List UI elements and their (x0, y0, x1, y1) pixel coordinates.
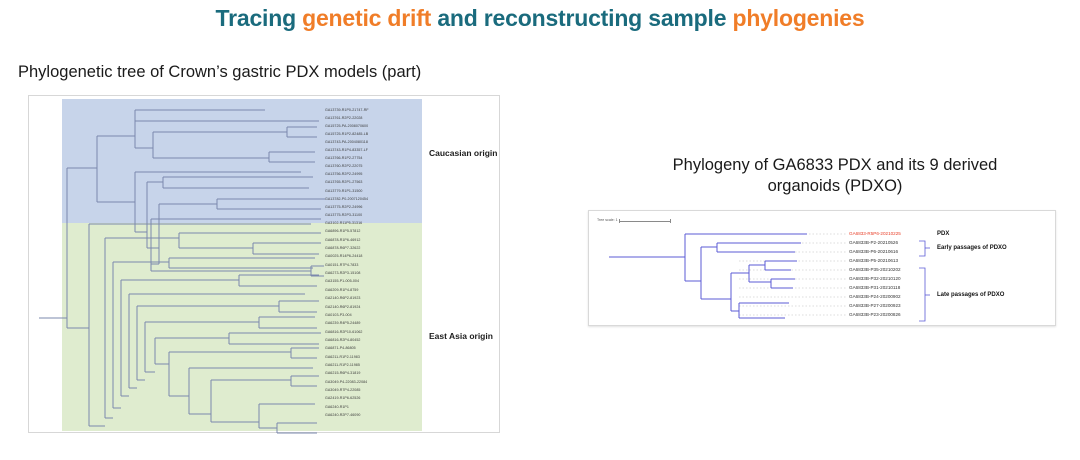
title-segment-2: genetic drift (302, 5, 431, 31)
page-title: Tracing genetic drift and reconstructing… (0, 5, 1080, 32)
tip-label: GA6816-R2P10-61062 (325, 330, 362, 334)
tip-label: GA13775-R2P2-24996 (325, 205, 362, 209)
tip-label: GA6211-R1P2-11985 (325, 363, 360, 367)
tip-label: GA13766-R1P2-27754 (325, 156, 362, 160)
tip-label: GA13775-R2P3-31100 (325, 213, 362, 217)
phylogenetic-tree-figure: GA13739-R1P0-21747-RFGA13761-R2P2-22028G… (28, 95, 500, 433)
tip-label: GA6871-P4-86805 (325, 346, 356, 350)
tip-label: GA6816-R2P4-80452 (325, 338, 360, 342)
tip-label: GA13779-R1P1-31500 (325, 189, 362, 193)
tip-label: GA6215-R6P4-31819 (325, 371, 360, 375)
left-tree-branches (29, 96, 501, 434)
group-label-late: Late passages of PDXO (937, 292, 1004, 298)
tip-label: GA3155-P1-005-004 (325, 279, 359, 283)
tip-label: GA0103-P3-004 (325, 313, 352, 317)
pdxo-tip-label: GA6833B-P24-20200902 (849, 294, 901, 299)
tip-label: GA13756-R2P2-24995 (325, 172, 362, 176)
title-segment-1: Tracing (216, 5, 303, 31)
pdxo-tip-label: GA6833B-P31-20210118 (849, 285, 900, 290)
pdxo-phylogeny-figure: Tree scale: 1 (588, 210, 1056, 326)
group-label-early: Early passages of PDXO (937, 245, 1007, 251)
pdxo-tip-label: GA6833B-P32-20210120 (849, 276, 901, 281)
pdxo-tip-label: GA6833B-P23-20200826 (849, 312, 901, 317)
tip-label: GA0025-R14P6-24418 (325, 254, 362, 258)
tip-label: GA6239-R4P5-24489 (325, 321, 360, 325)
tip-label: GA13761-R2P2-22028 (325, 116, 362, 120)
pdxo-tip-label: GA6833B-P35-20210202 (849, 267, 901, 272)
right-tree-branches (589, 211, 1057, 327)
tip-label: GA13782-P0-2007120454 (325, 197, 368, 201)
tip-label: GA13743-R1P4-83357-LF (325, 148, 368, 152)
pdxo-tip-label: GA6833B-P5-20210613 (849, 258, 898, 263)
title-segment-4: phylogenies (732, 5, 864, 31)
tip-label: GA2140-R6P2-81923 (325, 296, 360, 300)
left-figure-caption: Phylogenetic tree of Crown’s gastric PDX… (18, 62, 514, 82)
tip-label: GA6240-R2P7-46090 (325, 413, 360, 417)
tip-label: GA6240-R1P1 (325, 405, 349, 409)
tip-label: GA6273-R2P3-15108 (325, 271, 360, 275)
tip-label: GA15725-R1P2-82485-LB (325, 132, 368, 136)
title-segment-3: and reconstructing sample (431, 5, 732, 31)
pdxo-tip-label: GA6833B-P6-20210616 (849, 249, 898, 254)
tip-label: GA13760-R2P2-22075 (325, 164, 362, 168)
tip-label: GA0151-R7P4-7833 (325, 263, 358, 267)
tip-label: GA15725-PA-2008070600 (325, 124, 368, 128)
left-figure-panel: Phylogenetic tree of Crown’s gastric PDX… (14, 62, 514, 457)
clade-label-eastasia: East Asia origin (429, 331, 493, 341)
tip-label: GA6896-R1P5-57812 (325, 229, 360, 233)
right-figure-caption: Phylogeny of GA6833 PDX and its 9 derive… (620, 155, 1050, 197)
right-figure-panel: Phylogeny of GA6833 PDX and its 9 derive… (600, 155, 1070, 370)
tip-label: GA6878-R1P6-46912 (325, 238, 360, 242)
tip-label: GA13765-R2P1-27563 (325, 180, 362, 184)
right-caption-line1: Phylogeny of GA6833 PDX and its 9 derive… (673, 156, 998, 174)
pdxo-tip-label: GA6833B-P2-20210526 (849, 240, 898, 245)
clade-label-caucasian: Caucasian origin (429, 148, 498, 158)
tip-label: GA6209-R1P4-8759 (325, 288, 358, 292)
pdxo-tip-label: GA6833-R5P6-20210225 (849, 231, 901, 236)
group-label-pdx: PDX (937, 231, 949, 237)
tip-label: GA3102-R11P5-31316 (325, 221, 362, 225)
right-caption-line2: organoids (PDXO) (768, 177, 903, 195)
tip-label: GA13739-R1P0-21747-RF (325, 108, 369, 112)
tip-label: GA2419-R1P6-62526 (325, 396, 360, 400)
tip-label: GA3049-R7P4-22085 (325, 388, 360, 392)
tip-label: GA6878-R6P7-32622 (325, 246, 360, 250)
tip-label: GA13743-PA-2004080118 (325, 140, 368, 144)
tip-label: GA6211-R1P2-11983 (325, 355, 360, 359)
pdxo-tip-label: GA6833B-P27-20200923 (849, 303, 901, 308)
tip-label: GA3049-P4-22083-22084 (325, 380, 367, 384)
tip-label: GA2140-R6P2-81924 (325, 305, 360, 309)
